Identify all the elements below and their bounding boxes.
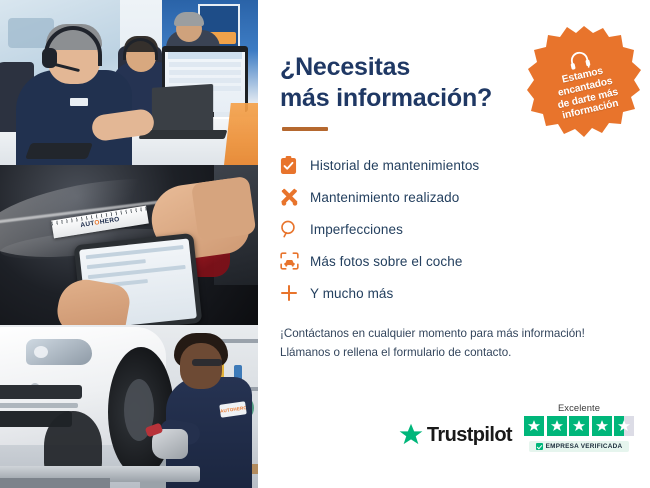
trustpilot-star-icon <box>398 422 424 448</box>
magnifier-icon <box>280 220 310 238</box>
screen-row <box>169 78 241 83</box>
front-agent-name-badge <box>70 98 88 106</box>
trustpilot-star-half <box>614 416 634 436</box>
verified-check-icon <box>536 443 543 450</box>
trustpilot-score-block: Excelente <box>524 402 634 452</box>
clipboard-check-icon <box>280 156 310 175</box>
contact-text: ¡Contáctanos en cualquier momento para m… <box>280 325 626 363</box>
title-line-2: más información? <box>280 84 492 112</box>
plus-icon <box>280 284 310 302</box>
tablet-row <box>87 259 146 269</box>
screen-toolbar <box>168 52 242 59</box>
third-agent-hair <box>174 12 204 26</box>
photo-collage: AUTOHERO <box>0 0 258 488</box>
laptop-keyboard <box>139 130 228 139</box>
trustpilot-logo: Trustpilot <box>398 422 512 452</box>
title-line-1: ¿Necesitas <box>280 53 410 81</box>
promo-badge: Estamos encantados de darte más informac… <box>526 24 642 140</box>
screen-row <box>169 62 241 67</box>
contact-line-2: Llámanos o rellena el formulario de cont… <box>280 346 511 359</box>
call-centre-agents-photo <box>0 0 258 165</box>
feature-label: Y mucho más <box>310 286 393 301</box>
feature-list: Historial de mantenimientos Mantenimient… <box>280 149 626 309</box>
content-panel: ¿Necesitas más información? Estamos enca… <box>258 0 650 488</box>
page-title: ¿Necesitas más información? <box>280 52 530 113</box>
technician-wheel-photo: AUTOHERO <box>0 325 258 488</box>
trustpilot-star-filled <box>547 416 567 436</box>
bumper-chrome-trim <box>0 403 78 408</box>
verified-company-badge: EMPRESA VERIFICADA <box>529 441 630 452</box>
verified-company-label: EMPRESA VERIFICADA <box>546 443 623 450</box>
headlight <box>26 339 92 365</box>
car-frame-icon <box>280 252 310 270</box>
technician-head <box>180 343 222 389</box>
desk-tablet <box>25 143 93 159</box>
upper-grille <box>0 385 82 399</box>
contact-line-1: ¡Contáctanos en cualquier momento para m… <box>280 327 585 340</box>
feature-item-maintenance-done: Mantenimiento realizado <box>280 181 626 213</box>
information-cta-card: AUTOHERO <box>0 0 650 488</box>
trustpilot-rating[interactable]: Trustpilot Excelente <box>398 402 634 452</box>
screen-row <box>169 70 241 75</box>
car-inspection-ruler-photo: AUTOHERO <box>0 165 258 325</box>
trustpilot-stars <box>524 416 634 436</box>
feature-item-much-more: Y mucho más <box>280 277 626 309</box>
feature-label: Historial de mantenimientos <box>310 158 479 173</box>
autohero-ruler-logo: AUTOHERO <box>80 215 120 228</box>
feature-label: Más fotos sobre el coche <box>310 254 462 269</box>
trustpilot-star-filled <box>524 416 544 436</box>
trustpilot-star-filled <box>569 416 589 436</box>
title-underline <box>282 127 328 131</box>
safety-glasses-icon <box>192 359 222 366</box>
feature-item-more-photos: Más fotos sobre el coche <box>280 245 626 277</box>
car-lift-base <box>0 478 110 488</box>
trustpilot-rating-label: Excelente <box>558 402 600 413</box>
inspector-arm <box>191 176 257 242</box>
crossed-tools-icon <box>280 188 310 207</box>
trustpilot-star-filled <box>592 416 612 436</box>
feature-label: Mantenimiento realizado <box>310 190 459 205</box>
trustpilot-wordmark: Trustpilot <box>427 424 512 447</box>
feature-item-maintenance-history: Historial de mantenimientos <box>280 149 626 181</box>
feature-item-imperfections: Imperfecciones <box>280 213 626 245</box>
badge-content: Estamos encantados de darte más informac… <box>514 12 650 151</box>
tablet-row <box>86 245 184 259</box>
laptop-screen <box>152 84 213 136</box>
feature-label: Imperfecciones <box>310 222 403 237</box>
